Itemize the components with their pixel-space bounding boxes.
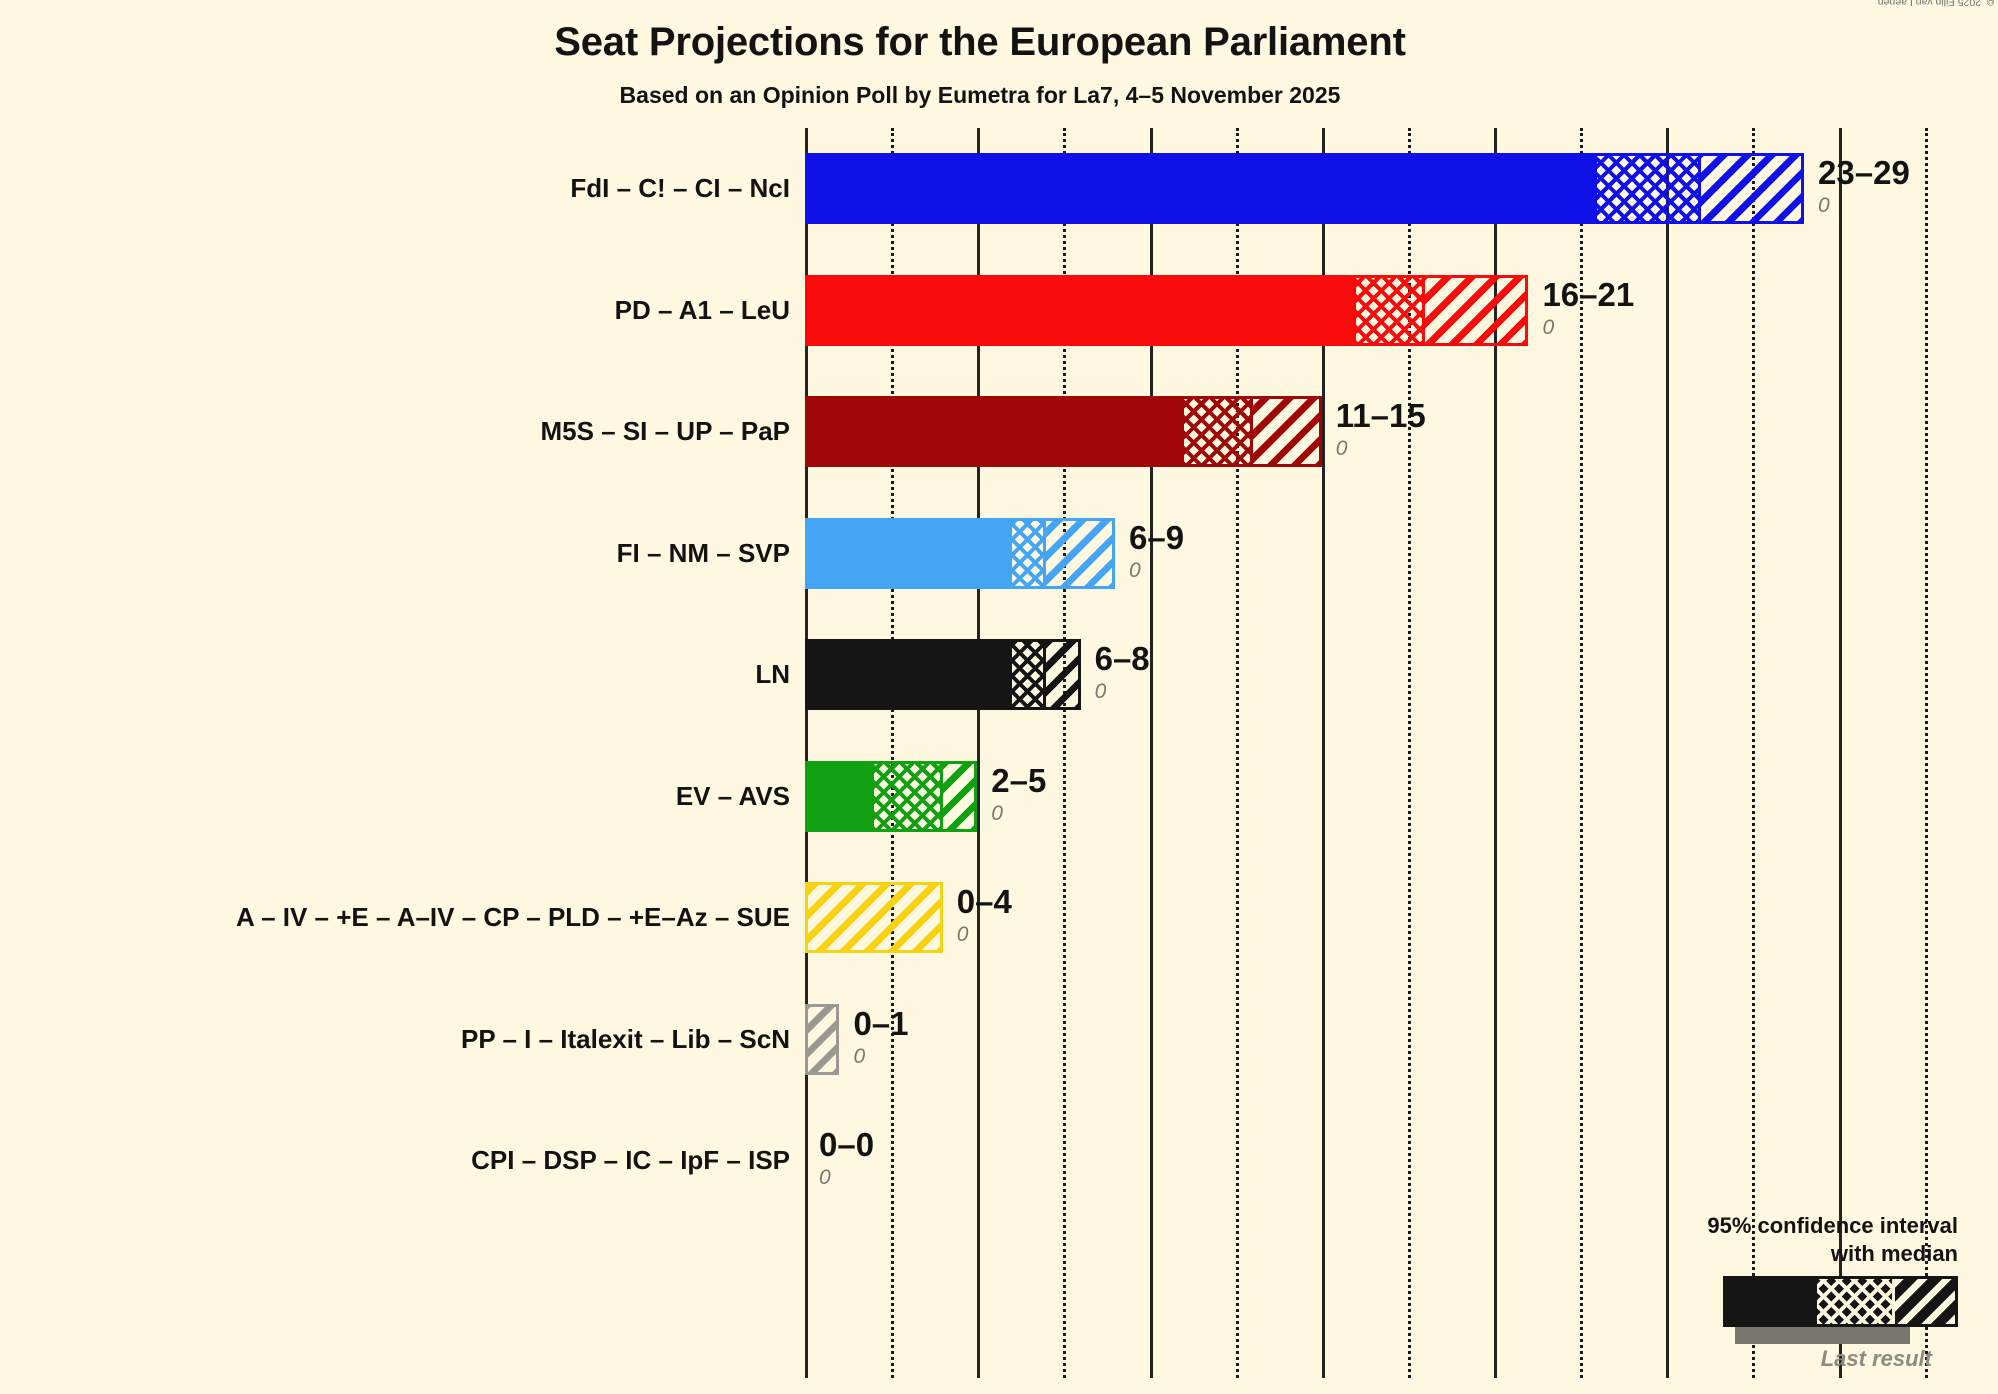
bar-outline xyxy=(805,1004,839,1075)
seat-range-label: 2–5 xyxy=(991,762,1046,800)
seat-range-label: 0–0 xyxy=(819,1126,874,1164)
bar-row: EV – AVS2–50 xyxy=(0,736,1998,857)
last-result-label: 0 xyxy=(991,802,1003,826)
seat-range-label: 6–8 xyxy=(1095,640,1150,678)
last-result-label: 0 xyxy=(1818,194,1830,218)
bar-row: CPI – DSP – IC – IpF – ISP0–00 xyxy=(0,1100,1998,1221)
bar-outline xyxy=(805,275,1528,346)
seat-range-label: 23–29 xyxy=(1818,154,1910,192)
party-label: LN xyxy=(755,614,804,735)
party-label: PD – A1 – LeU xyxy=(615,250,804,371)
legend-caption-line1: 95% confidence interval xyxy=(1707,1212,1958,1240)
bar-outline xyxy=(805,396,1322,467)
seat-range-label: 0–1 xyxy=(853,1005,908,1043)
seat-range-label: 16–21 xyxy=(1542,276,1634,314)
party-label: M5S – SI – UP – PaP xyxy=(540,371,804,492)
last-result-label: 0 xyxy=(957,923,969,947)
legend-caption: 95% confidence interval with median xyxy=(1707,1212,1958,1267)
legend-caption-line2: with median xyxy=(1707,1240,1958,1268)
seat-range-label: 11–15 xyxy=(1336,397,1426,435)
bar-row: FdI – C! – CI – NcI23–290 xyxy=(0,128,1998,249)
bar-outline xyxy=(805,639,1081,710)
bar-outline xyxy=(805,882,943,953)
legend-last-result-label: Last result xyxy=(1707,1346,1932,1372)
legend-cross-hatch-segment xyxy=(1817,1279,1895,1324)
party-label: EV – AVS xyxy=(676,736,804,857)
confidence-interval-bar xyxy=(805,396,1322,467)
seat-range-label: 0–4 xyxy=(957,883,1012,921)
legend-interval-swatch xyxy=(1723,1276,1958,1327)
confidence-interval-bar xyxy=(805,518,1115,589)
confidence-interval-bar xyxy=(805,639,1081,710)
bar-row: LN6–80 xyxy=(0,614,1998,735)
legend-last-result-swatch xyxy=(1735,1327,1910,1344)
party-label: FdI – C! – CI – NcI xyxy=(570,128,804,249)
chart-canvas: Seat Projections for the European Parlia… xyxy=(0,0,1998,1394)
confidence-interval-bar xyxy=(805,761,977,832)
page-title: Seat Projections for the European Parlia… xyxy=(0,20,1960,65)
party-label: CPI – DSP – IC – IpF – ISP xyxy=(471,1100,804,1221)
last-result-label: 0 xyxy=(819,1166,831,1190)
bar-row: FI – NM – SVP6–90 xyxy=(0,493,1998,614)
confidence-interval-bar xyxy=(805,153,1804,224)
bar-outline xyxy=(805,518,1115,589)
party-label: A – IV – +E – A–IV – CP – PLD – +E–Az – … xyxy=(236,857,804,978)
bar-outline xyxy=(805,761,977,832)
bar-row: PP – I – Italexit – Lib – ScN0–10 xyxy=(0,979,1998,1100)
party-label: PP – I – Italexit – Lib – ScN xyxy=(461,979,804,1100)
chart-subtitle: Based on an Opinion Poll by Eumetra for … xyxy=(0,82,1960,109)
party-label: FI – NM – SVP xyxy=(617,493,804,614)
last-result-label: 0 xyxy=(1129,559,1141,583)
confidence-interval-bar xyxy=(805,1004,839,1075)
last-result-label: 0 xyxy=(1095,680,1107,704)
last-result-label: 0 xyxy=(853,1045,865,1069)
legend-diagonal-hatch-segment xyxy=(1895,1279,1955,1324)
copyright-notice: © 2025 Filip van Laenen xyxy=(1878,0,1996,8)
bar-row: PD – A1 – LeU16–210 xyxy=(0,250,1998,371)
confidence-interval-bar xyxy=(805,882,943,953)
legend: 95% confidence interval with median Last… xyxy=(1707,1212,1958,1372)
confidence-interval-bar xyxy=(805,275,1528,346)
bar-outline xyxy=(805,153,1804,224)
last-result-label: 0 xyxy=(1542,316,1554,340)
bar-row: A – IV – +E – A–IV – CP – PLD – +E–Az – … xyxy=(0,857,1998,978)
last-result-label: 0 xyxy=(1336,437,1348,461)
bar-row: M5S – SI – UP – PaP11–150 xyxy=(0,371,1998,492)
seat-range-label: 6–9 xyxy=(1129,519,1184,557)
